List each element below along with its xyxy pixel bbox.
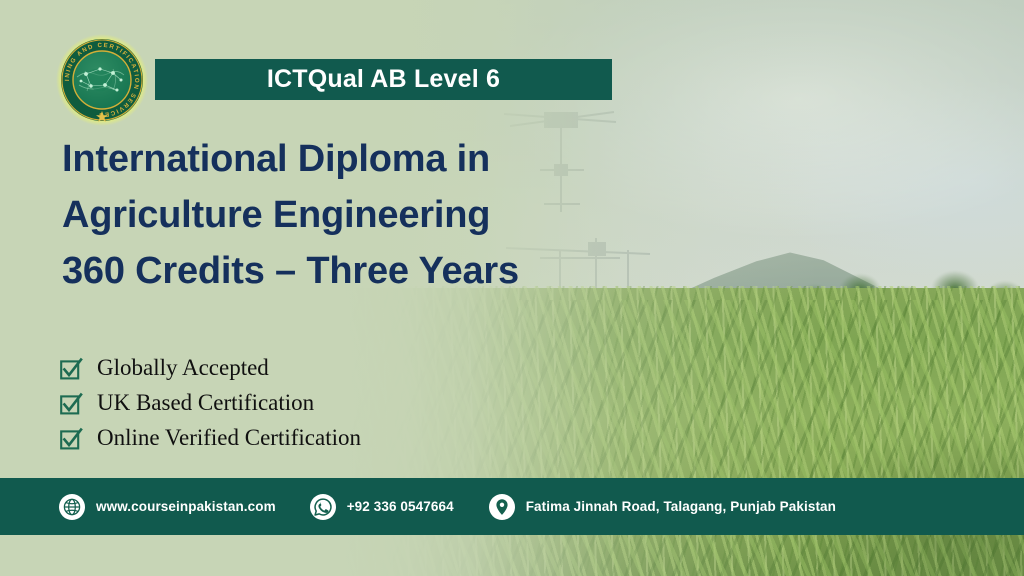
location-pin-svg: [489, 494, 515, 520]
feature-label: Globally Accepted: [97, 355, 269, 381]
course-title: International Diploma in Agriculture Eng…: [62, 131, 622, 299]
feature-item: Globally Accepted: [59, 350, 361, 385]
globe-icon: [59, 494, 85, 520]
footer-website[interactable]: www.courseinpakistan.com: [59, 478, 276, 535]
checkbox-checked-svg: [59, 427, 83, 451]
location-pin-icon: [489, 494, 515, 520]
certification-seal-icon: GLOBAL TRAINING AND CERTIFICATION SERVIC…: [55, 33, 149, 127]
banner-content: GLOBAL TRAINING AND CERTIFICATION SERVIC…: [0, 0, 1024, 576]
feature-item: UK Based Certification: [59, 385, 361, 420]
feature-list: Globally Accepted UK Based Certification: [59, 350, 361, 455]
contact-footer-bar: www.courseinpakistan.com +92 336 0547664: [0, 478, 1024, 535]
checkbox-checked-icon: [59, 392, 83, 416]
qualification-level-label: ICTQual AB Level 6: [267, 65, 500, 94]
checkbox-checked-svg: [59, 357, 83, 381]
feature-label: Online Verified Certification: [97, 425, 361, 451]
feature-item: Online Verified Certification: [59, 420, 361, 455]
organization-logo: GLOBAL TRAINING AND CERTIFICATION SERVIC…: [55, 33, 149, 127]
checkbox-checked-svg: [59, 392, 83, 416]
qualification-level-ribbon: ICTQual AB Level 6: [155, 59, 612, 100]
course-title-line-3: 360 Credits – Three Years: [62, 243, 622, 299]
course-title-line-2: Agriculture Engineering: [62, 187, 622, 243]
footer-address[interactable]: Fatima Jinnah Road, Talagang, Punjab Pak…: [489, 478, 836, 535]
checkbox-checked-icon: [59, 357, 83, 381]
website-label: www.courseinpakistan.com: [96, 499, 276, 514]
checkbox-checked-icon: [59, 427, 83, 451]
course-title-line-1: International Diploma in: [62, 131, 622, 187]
whatsapp-icon: [310, 494, 336, 520]
whatsapp-svg: [310, 494, 336, 520]
phone-label: +92 336 0547664: [347, 499, 454, 514]
feature-label: UK Based Certification: [97, 390, 314, 416]
footer-phone[interactable]: +92 336 0547664: [310, 478, 454, 535]
globe-svg: [59, 494, 85, 520]
course-promo-banner: GLOBAL TRAINING AND CERTIFICATION SERVIC…: [0, 0, 1024, 576]
address-label: Fatima Jinnah Road, Talagang, Punjab Pak…: [526, 499, 836, 514]
